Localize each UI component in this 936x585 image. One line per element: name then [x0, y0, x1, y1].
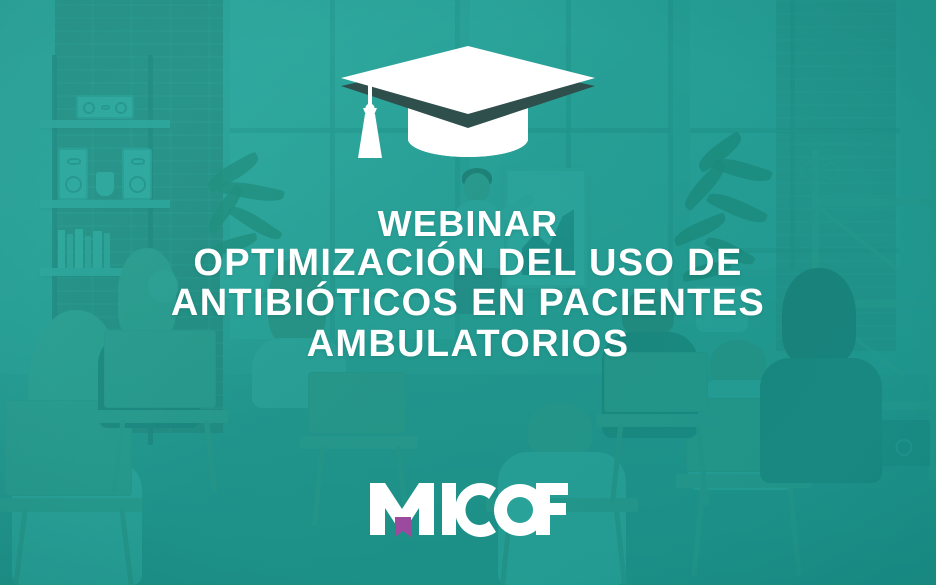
graduation-cap-icon — [333, 42, 603, 167]
headline-line-2: ANTIBIÓTICOS EN PACIENTES — [0, 283, 936, 323]
webinar-poster: WEBINAR OPTIMIZACIÓN DEL USO DE ANTIBIÓT… — [0, 0, 936, 585]
headline-eyebrow: WEBINAR — [0, 205, 936, 243]
headline-block: WEBINAR OPTIMIZACIÓN DEL USO DE ANTIBIÓT… — [0, 205, 936, 364]
poster-content: WEBINAR OPTIMIZACIÓN DEL USO DE ANTIBIÓT… — [0, 0, 936, 585]
micof-logo — [0, 481, 936, 537]
headline-line-1: OPTIMIZACIÓN DEL USO DE — [0, 243, 936, 283]
headline-line-3: AMBULATORIOS — [0, 324, 936, 364]
micof-accent-shape — [395, 517, 411, 537]
